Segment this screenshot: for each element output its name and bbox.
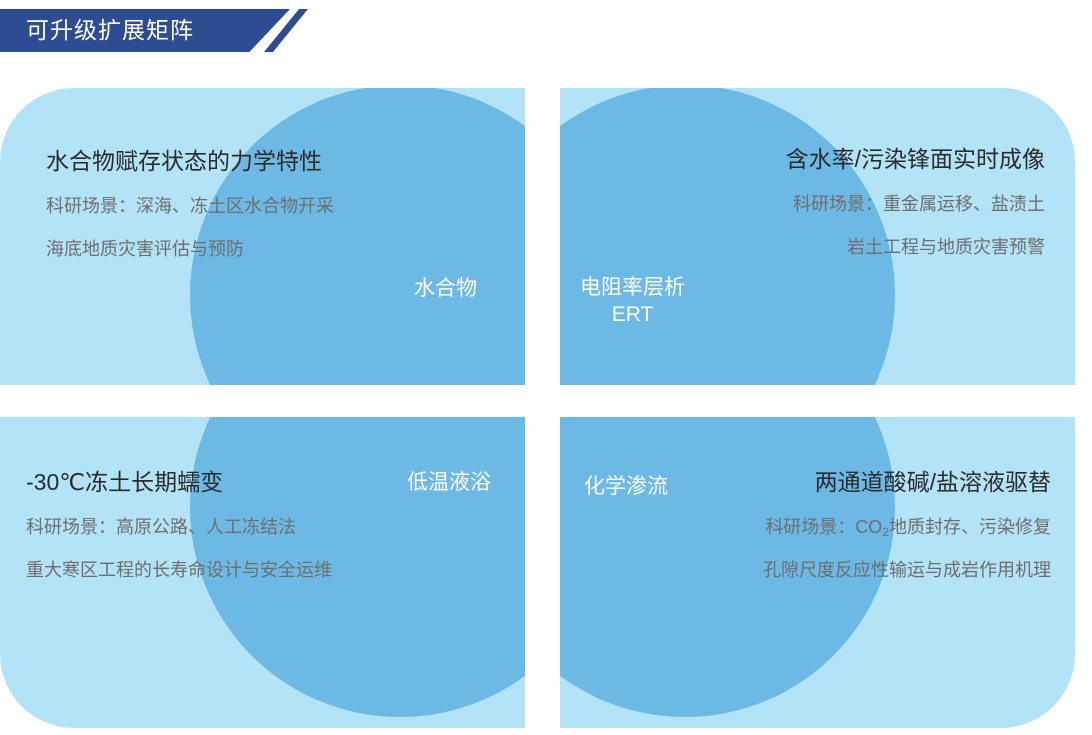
matrix-card-scenario-line-2: 重大寒区工程的长寿命设计与安全运维 bbox=[26, 559, 332, 582]
matrix-card-badge: 电阻率层析 ERT bbox=[580, 274, 685, 329]
matrix-card-cryogenic-bath[interactable]: 低温液浴 -30℃冻土长期蠕变 科研场景：高原公路、人工冻结法 重大寒区工程的长… bbox=[0, 417, 525, 728]
matrix-card-scenario-line-1: 科研场景：高原公路、人工冻结法 bbox=[26, 516, 332, 539]
matrix-card-scenario-line-1: 科研场景：CO2地质封存、污染修复 bbox=[763, 516, 1051, 539]
matrix-card-scenario-line-2: 海底地质灾害评估与预防 bbox=[46, 238, 334, 261]
matrix-card-body: 含水率/污染锋面实时成像 科研场景：重金属运移、盐渍土 岩土工程与地质灾害预警 bbox=[786, 146, 1045, 259]
matrix-card-badge: 化学渗流 bbox=[584, 473, 668, 501]
matrix-card-heading: -30℃冻土长期蠕变 bbox=[26, 469, 332, 497]
page-title-banner: 可升级扩展矩阵 bbox=[0, 9, 330, 52]
matrix-card-badge: 水合物 bbox=[414, 275, 477, 303]
matrix-card-badge: 低温液浴 bbox=[407, 469, 491, 497]
matrix-card-ert[interactable]: 电阻率层析 ERT 含水率/污染锋面实时成像 科研场景：重金属运移、盐渍土 岩土… bbox=[560, 88, 1075, 385]
matrix-card-scenario-line-2: 岩土工程与地质灾害预警 bbox=[786, 236, 1045, 259]
matrix-card-body: -30℃冻土长期蠕变 科研场景：高原公路、人工冻结法 重大寒区工程的长寿命设计与… bbox=[26, 469, 332, 582]
matrix-card-scenario-line-2: 孔隙尺度反应性输运与成岩作用机理 bbox=[763, 559, 1051, 582]
matrix-card-heading: 水合物赋存状态的力学特性 bbox=[46, 148, 334, 176]
matrix-card-body: 水合物赋存状态的力学特性 科研场景：深海、冻土区水合物开采 海底地质灾害评估与预… bbox=[46, 148, 334, 261]
matrix-card-heading: 含水率/污染锋面实时成像 bbox=[786, 146, 1045, 174]
matrix-card-chemical-seepage[interactable]: 化学渗流 两通道酸碱/盐溶液驱替 科研场景：CO2地质封存、污染修复 孔隙尺度反… bbox=[560, 417, 1075, 728]
matrix-card-scenario-line-1: 科研场景：重金属运移、盐渍土 bbox=[786, 193, 1045, 216]
matrix-card-heading: 两通道酸碱/盐溶液驱替 bbox=[763, 469, 1051, 497]
matrix-card-body: 两通道酸碱/盐溶液驱替 科研场景：CO2地质封存、污染修复 孔隙尺度反应性输运与… bbox=[763, 469, 1051, 582]
scenario-text-prefix: 科研场景：CO bbox=[765, 517, 882, 537]
co2-subscript: 2 bbox=[882, 525, 889, 539]
scenario-text-suffix: 地质封存、污染修复 bbox=[889, 517, 1051, 537]
upgrade-matrix: 水合物 水合物赋存状态的力学特性 科研场景：深海、冻土区水合物开采 海底地质灾害… bbox=[0, 88, 1075, 728]
matrix-card-scenario-line-1: 科研场景：深海、冻土区水合物开采 bbox=[46, 195, 334, 218]
matrix-card-hydrate[interactable]: 水合物 水合物赋存状态的力学特性 科研场景：深海、冻土区水合物开采 海底地质灾害… bbox=[0, 88, 525, 385]
page-title: 可升级扩展矩阵 bbox=[26, 9, 194, 52]
